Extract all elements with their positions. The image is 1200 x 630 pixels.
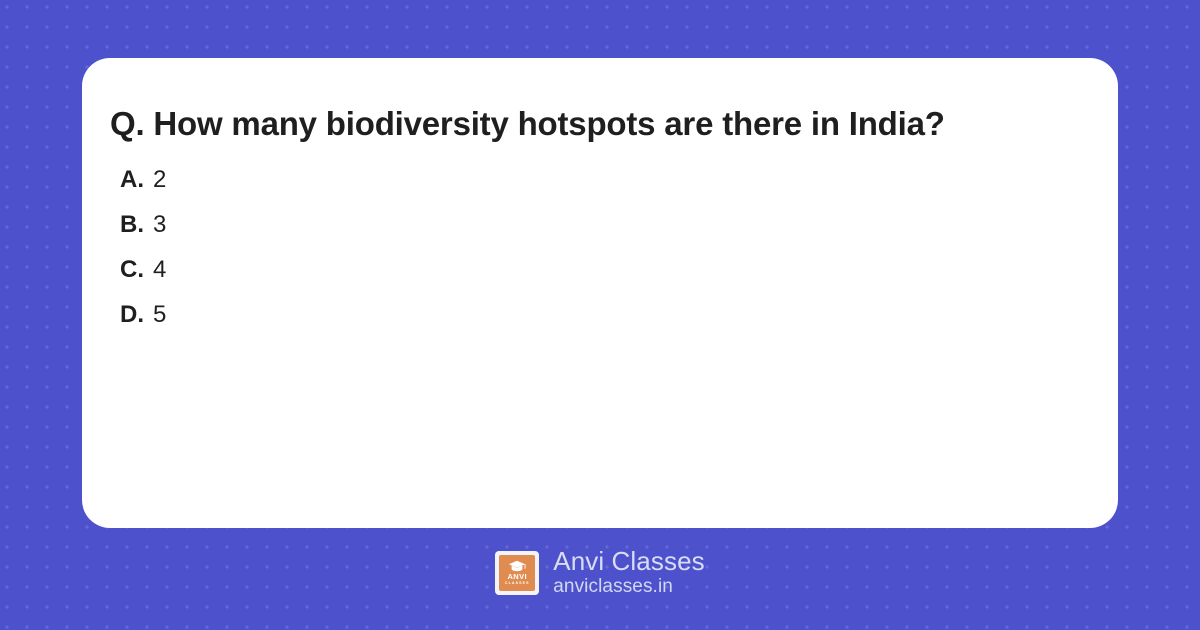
option-value-c: 4 bbox=[153, 256, 166, 284]
option-letter-d: D. bbox=[120, 301, 144, 329]
graduation-cap-icon bbox=[508, 560, 526, 572]
brand-logo-subtitle: CLASSES bbox=[505, 582, 530, 586]
option-row-b[interactable]: B. 3 bbox=[120, 211, 1090, 256]
brand-logo-name: ANVI bbox=[507, 573, 527, 581]
option-letter-c: C. bbox=[120, 256, 144, 284]
option-row-c[interactable]: C. 4 bbox=[120, 256, 1090, 301]
brand-logo-inner: ANVI CLASSES bbox=[499, 555, 535, 591]
brand-text: Anvi Classes anviclasses.in bbox=[553, 548, 704, 597]
option-value-d: 5 bbox=[153, 301, 166, 329]
option-value-a: 2 bbox=[153, 166, 166, 194]
brand-logo: ANVI CLASSES bbox=[495, 551, 539, 595]
option-letter-a: A. bbox=[120, 166, 144, 194]
footer-brand: ANVI CLASSES Anvi Classes anviclasses.in bbox=[0, 548, 1200, 597]
question-card: Q. How many biodiversity hotspots are th… bbox=[82, 58, 1118, 528]
brand-url[interactable]: anviclasses.in bbox=[553, 577, 704, 597]
options-list: A. 2 B. 3 C. 4 D. 5 bbox=[110, 166, 1090, 346]
brand-title: Anvi Classes bbox=[553, 548, 704, 575]
question-text: Q. How many biodiversity hotspots are th… bbox=[110, 103, 1090, 144]
option-value-b: 3 bbox=[153, 211, 166, 239]
option-row-a[interactable]: A. 2 bbox=[120, 166, 1090, 211]
option-letter-b: B. bbox=[120, 211, 144, 239]
option-row-d[interactable]: D. 5 bbox=[120, 301, 1090, 346]
